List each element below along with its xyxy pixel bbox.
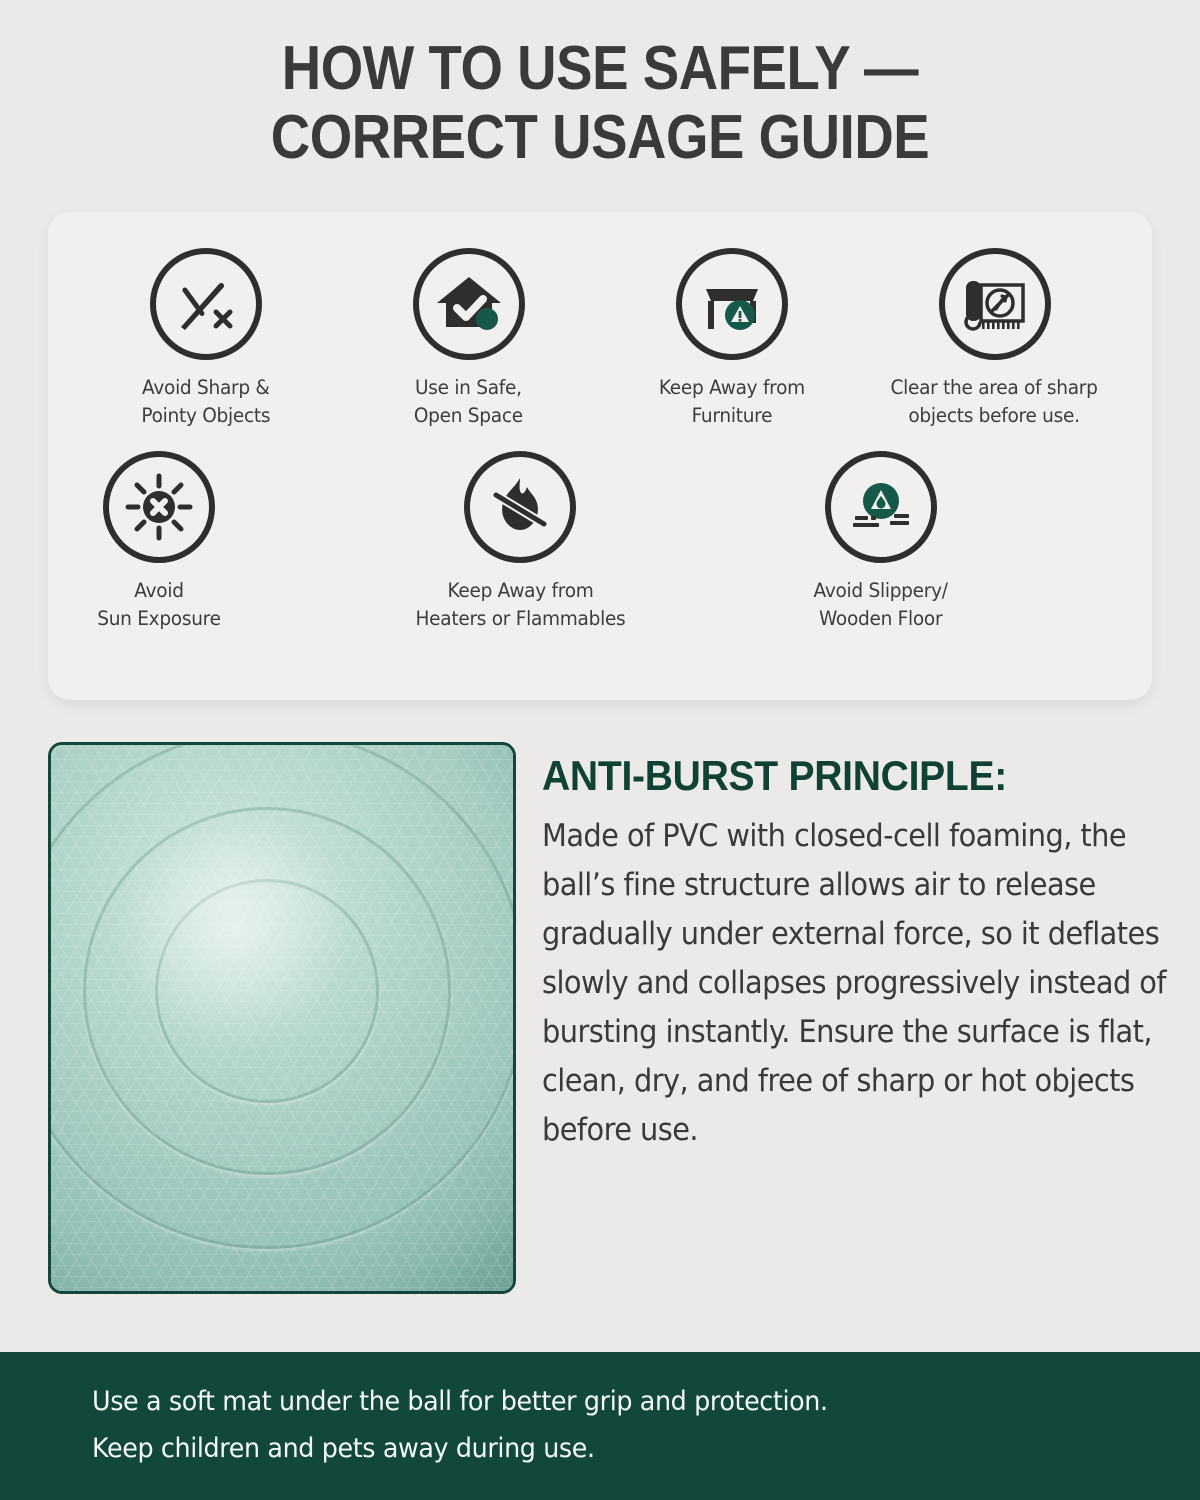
safety-item-keep-away-furniture: Keep Away from Furniture xyxy=(614,248,850,429)
footer-line-1: Use a soft mat under the ball for better… xyxy=(92,1378,1134,1425)
safety-item-avoid-sharp: Avoid Sharp & Pointy Objects xyxy=(88,248,324,429)
safety-item-label: Keep Away from Heaters or Flammables xyxy=(415,577,625,632)
safe-open-space-house-icon xyxy=(413,248,525,360)
page-title: HOW TO USE SAFELY — CORRECT USAGE GUIDE xyxy=(72,0,1128,173)
keep-away-from-furniture-icon xyxy=(676,248,788,360)
safety-item-label: Use in Safe, Open Space xyxy=(414,374,523,429)
footer-line-2: Keep children and pets away during use. xyxy=(92,1425,1134,1472)
page-title-line-1: HOW TO USE SAFELY — xyxy=(125,34,1075,103)
safety-icon-row-2: Avoid Sun Exposure Keep Away from Heater… xyxy=(48,451,1152,632)
anti-burst-feature-section: ANTI-BURST PRINCIPLE: Made of PVC with c… xyxy=(48,742,1152,1294)
exercise-ball-image xyxy=(48,742,516,1294)
no-sharp-objects-icon xyxy=(150,248,262,360)
safety-item-clear-area: Clear the area of sharp objects before u… xyxy=(877,248,1113,429)
safety-item-safe-open-space: Use in Safe, Open Space xyxy=(351,248,587,429)
safety-item-label: Avoid Sun Exposure xyxy=(98,577,221,632)
safety-icon-row-1: Avoid Sharp & Pointy Objects Use in Safe… xyxy=(48,248,1152,429)
safety-item-label: Clear the area of sharp objects before u… xyxy=(891,374,1098,429)
safety-item-keep-away-heaters: Keep Away from Heaters or Flammables xyxy=(409,451,632,632)
safety-item-label: Avoid Slippery/ Wooden Floor xyxy=(814,577,948,632)
feature-text-block: ANTI-BURST PRINCIPLE: Made of PVC with c… xyxy=(542,742,1200,1294)
safety-item-label: Avoid Sharp & Pointy Objects xyxy=(141,374,270,429)
no-sun-exposure-icon xyxy=(103,451,215,563)
safety-guidelines-card: Avoid Sharp & Pointy Objects Use in Safe… xyxy=(48,212,1152,700)
safety-item-label: Keep Away from Furniture xyxy=(658,374,804,429)
page-title-line-2: CORRECT USAGE GUIDE xyxy=(125,103,1075,172)
ball-surface xyxy=(48,742,516,1294)
clear-area-mat-icon xyxy=(939,248,1051,360)
feature-body-text: Made of PVC with closed-cell foaming, th… xyxy=(542,812,1184,1155)
ball-highlight xyxy=(109,813,359,1043)
no-fire-heaters-icon xyxy=(464,451,576,563)
footer-banner: Use a soft mat under the ball for better… xyxy=(0,1352,1200,1500)
feature-heading: ANTI-BURST PRINCIPLE: xyxy=(542,752,1184,800)
no-slippery-wooden-floor-icon xyxy=(825,451,937,563)
safety-item-avoid-sun: Avoid Sun Exposure xyxy=(48,451,271,632)
safety-item-avoid-slippery-floor: Avoid Slippery/ Wooden Floor xyxy=(769,451,992,632)
